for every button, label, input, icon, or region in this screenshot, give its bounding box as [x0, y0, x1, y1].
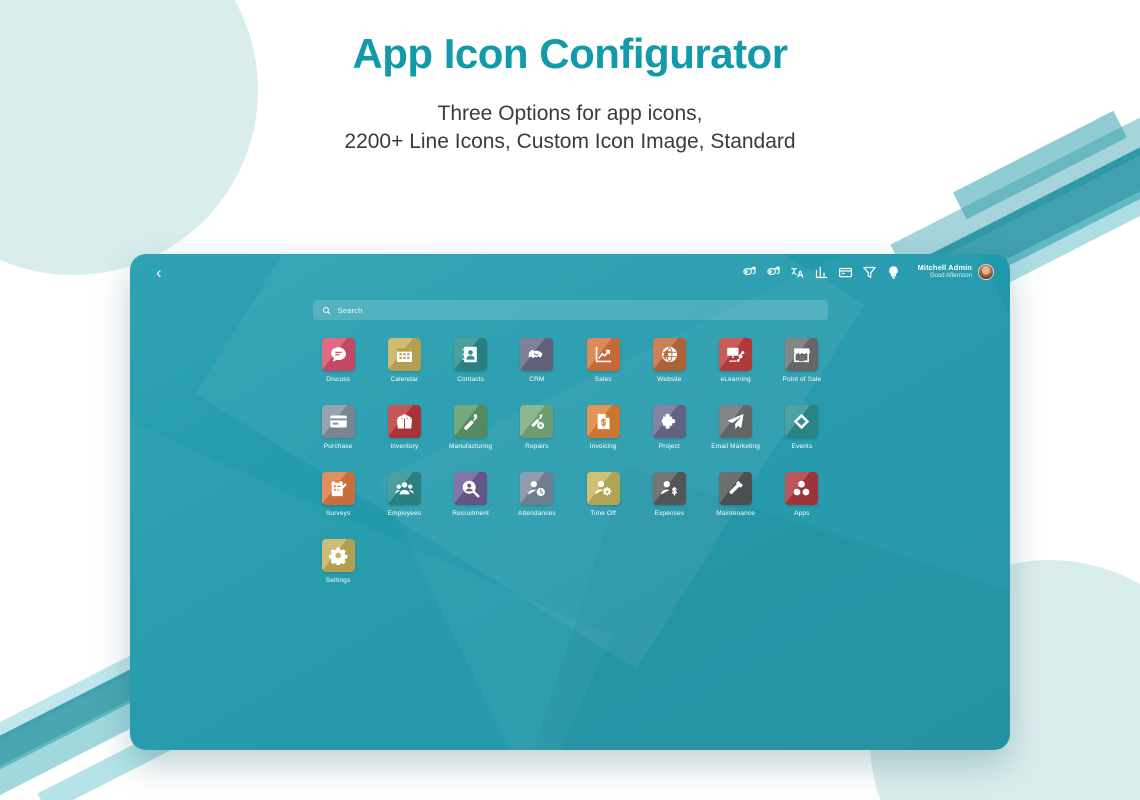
translate-icon[interactable]: [790, 265, 805, 280]
hammer-icon[interactable]: [719, 472, 752, 505]
person-clock-icon[interactable]: [520, 472, 553, 505]
search-placeholder: Search: [338, 306, 363, 315]
messages-icon[interactable]: [742, 265, 757, 280]
app-label: Point of Sale: [782, 376, 821, 383]
app-label: Events: [791, 443, 812, 450]
app-label: Maintenance: [716, 510, 755, 517]
chat-bubble-icon[interactable]: [322, 338, 355, 371]
app-tile-website[interactable]: Website: [636, 338, 702, 383]
page-subtitle: Three Options for app icons, 2200+ Line …: [0, 100, 1140, 156]
app-tile-events[interactable]: Events: [769, 405, 835, 450]
user-name: Mitchell Admin: [918, 264, 972, 273]
app-label: Apps: [794, 510, 809, 517]
app-label: Invoicing: [590, 443, 617, 450]
ticket-diamond-icon[interactable]: [785, 405, 818, 438]
app-tile-crm[interactable]: CRM: [504, 338, 570, 383]
app-tile-apps[interactable]: Apps: [769, 472, 835, 517]
app-label: Website: [657, 376, 681, 383]
app-label: eLearning: [720, 376, 750, 383]
app-tile-purchase[interactable]: Purchase: [305, 405, 371, 450]
app-window: ‹: [130, 254, 1010, 750]
card-icon[interactable]: [838, 265, 853, 280]
open-box-icon[interactable]: [388, 405, 421, 438]
clipboard-pen-icon[interactable]: [322, 472, 355, 505]
app-tile-recruitment[interactable]: Recruitment: [438, 472, 504, 517]
user-greeting: Good Afternoon: [918, 273, 972, 280]
app-tile-inventory[interactable]: Inventory: [371, 405, 437, 450]
subtitle-line-2: 2200+ Line Icons, Custom Icon Image, Sta…: [0, 128, 1140, 156]
line-chart-up-icon[interactable]: [587, 338, 620, 371]
app-label: Inventory: [390, 443, 418, 450]
app-label: Discuss: [326, 376, 350, 383]
app-label: CRM: [529, 376, 544, 383]
wrench-gear-icon[interactable]: [520, 405, 553, 438]
storefront-icon[interactable]: [785, 338, 818, 371]
search-section: Search: [313, 300, 828, 320]
presentation-icon[interactable]: [719, 338, 752, 371]
app-tile-time-off[interactable]: Time Off: [570, 472, 636, 517]
avatar[interactable]: [978, 264, 994, 280]
app-tile-project[interactable]: Project: [636, 405, 702, 450]
invoice-dollar-icon[interactable]: [587, 405, 620, 438]
app-label: Project: [659, 443, 680, 450]
page-root: App Icon Configurator Three Options for …: [0, 0, 1140, 800]
search-icon: [322, 306, 331, 315]
subtitle-line-1: Three Options for app icons,: [0, 100, 1140, 128]
app-label: Recruitment: [452, 510, 489, 517]
app-tile-calendar[interactable]: Calendar: [371, 338, 437, 383]
app-tile-repairs[interactable]: Repairs: [504, 405, 570, 450]
app-label: Time Off: [590, 510, 616, 517]
puzzle-piece-icon[interactable]: [653, 405, 686, 438]
globe-icon[interactable]: [653, 338, 686, 371]
systray: Mitchell Admin Good Afternoon: [742, 264, 994, 280]
page-title: App Icon Configurator: [0, 30, 1140, 78]
search-input[interactable]: Search: [313, 300, 828, 320]
blocks-icon[interactable]: [785, 472, 818, 505]
app-tile-elearning[interactable]: eLearning: [703, 338, 769, 383]
app-label: Settings: [326, 577, 351, 584]
filter-icon[interactable]: [862, 265, 877, 280]
magnifier-person-icon[interactable]: [454, 472, 487, 505]
user-text: Mitchell Admin Good Afternoon: [918, 264, 972, 280]
handshake-icon[interactable]: [520, 338, 553, 371]
app-tile-point-of-sale[interactable]: Point of Sale: [769, 338, 835, 383]
window-topbar: ‹: [130, 254, 1010, 290]
app-tile-employees[interactable]: Employees: [371, 472, 437, 517]
paper-plane-icon[interactable]: [719, 405, 752, 438]
app-tile-manufacturing[interactable]: Manufacturing: [438, 405, 504, 450]
app-label: Repairs: [525, 443, 548, 450]
app-label: Surveys: [326, 510, 351, 517]
user-menu[interactable]: Mitchell Admin Good Afternoon: [918, 264, 994, 280]
app-label: Email Marketing: [711, 443, 760, 450]
app-label: Manufacturing: [449, 443, 492, 450]
app-tile-settings[interactable]: Settings: [305, 539, 371, 584]
contact-card-icon[interactable]: [454, 338, 487, 371]
gear-icon[interactable]: [322, 539, 355, 572]
app-grid-section: DiscussCalendarContactsCRMSalesWebsiteeL…: [305, 338, 835, 584]
app-tile-expenses[interactable]: Expenses: [636, 472, 702, 517]
app-tile-attendances[interactable]: Attendances: [504, 472, 570, 517]
app-tile-email-marketing[interactable]: Email Marketing: [703, 405, 769, 450]
app-label: Expenses: [655, 510, 685, 517]
credit-card-icon[interactable]: [322, 405, 355, 438]
page-header: App Icon Configurator Three Options for …: [0, 0, 1140, 156]
app-grid: DiscussCalendarContactsCRMSalesWebsiteeL…: [305, 338, 835, 584]
app-label: Attendances: [518, 510, 556, 517]
app-label: Sales: [595, 376, 612, 383]
app-tile-maintenance[interactable]: Maintenance: [703, 472, 769, 517]
activities-icon[interactable]: [766, 265, 781, 280]
app-tile-sales[interactable]: Sales: [570, 338, 636, 383]
chart-icon[interactable]: [814, 265, 829, 280]
app-tile-discuss[interactable]: Discuss: [305, 338, 371, 383]
person-gear-icon[interactable]: [587, 472, 620, 505]
app-label: Calendar: [391, 376, 419, 383]
lightbulb-icon[interactable]: [886, 265, 901, 280]
wrench-icon[interactable]: [454, 405, 487, 438]
app-tile-surveys[interactable]: Surveys: [305, 472, 371, 517]
calendar-icon[interactable]: [388, 338, 421, 371]
app-label: Employees: [388, 510, 422, 517]
person-dollar-icon[interactable]: [653, 472, 686, 505]
app-label: Purchase: [324, 443, 353, 450]
app-tile-contacts[interactable]: Contacts: [438, 338, 504, 383]
people-group-icon[interactable]: [388, 472, 421, 505]
app-tile-invoicing[interactable]: Invoicing: [570, 405, 636, 450]
back-button[interactable]: ‹: [150, 260, 168, 285]
app-label: Contacts: [457, 376, 484, 383]
